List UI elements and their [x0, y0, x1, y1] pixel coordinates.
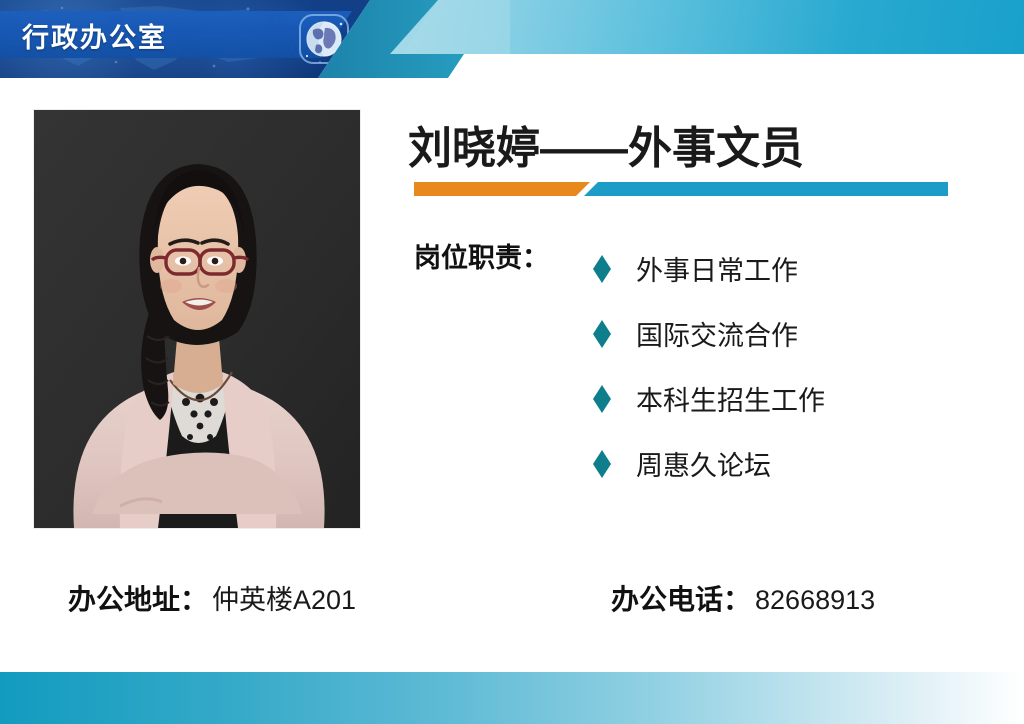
office-address-value: 仲英楼A201 [212, 578, 356, 617]
list-item: 外事日常工作 [592, 236, 992, 301]
portrait-photo [34, 110, 360, 528]
list-item-label: 外事日常工作 [636, 249, 798, 288]
list-item: 周惠久论坛 [592, 431, 992, 496]
duties-label: 岗位职责： [414, 236, 549, 275]
divider-blue-segment [584, 182, 948, 196]
list-item-label: 周惠久论坛 [636, 444, 771, 483]
diamond-bullet-icon [592, 384, 612, 414]
diamond-bullet-icon [592, 254, 612, 284]
list-item: 本科生招生工作 [592, 366, 992, 431]
slide-canvas: 行政办公室 [0, 0, 1024, 724]
list-item: 国际交流合作 [592, 301, 992, 366]
office-address: 办公地址： 仲英楼A201 [68, 578, 356, 618]
office-phone: 办公电话： 82668913 [611, 578, 875, 618]
page-title: 刘晓婷——外事文员 [408, 112, 804, 176]
divider-orange-segment [414, 182, 590, 196]
duties-list: 外事日常工作 国际交流合作 本科生招生工作 周惠久论坛 [592, 236, 992, 496]
portrait-photo-image [34, 110, 360, 528]
office-phone-value: 82668913 [755, 585, 875, 616]
list-item-label: 本科生招生工作 [636, 379, 825, 418]
diamond-bullet-icon [592, 319, 612, 349]
footer-bar [0, 672, 1024, 724]
header-banner: 行政办公室 [0, 0, 1024, 80]
office-phone-label: 办公电话： [611, 578, 751, 618]
list-item-label: 国际交流合作 [636, 314, 798, 353]
diamond-bullet-icon [592, 449, 612, 479]
office-name-label: 行政办公室 [22, 16, 167, 55]
title-divider [414, 182, 948, 196]
office-address-label: 办公地址： [68, 578, 208, 618]
